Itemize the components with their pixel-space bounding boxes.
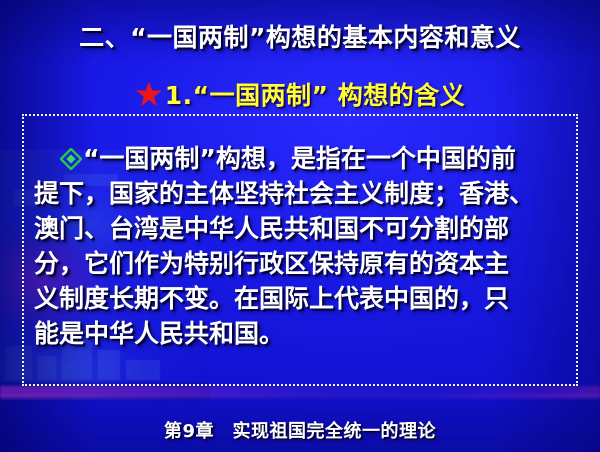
subheading-row: 1.“一国两制” 构想的含义 (0, 76, 600, 112)
body-line: 分，它们作为特别行政区保持原有的资本主 (34, 246, 568, 281)
star-icon (135, 80, 163, 108)
body-line: 能是中华人民共和国。 (34, 316, 568, 351)
background-magenta-band-lower (0, 394, 600, 399)
body-line-text: 能是中华人民共和国。 (34, 319, 284, 348)
body-line-text: 澳门、台湾是中华人民共和国不可分割的部 (34, 214, 509, 243)
body-line-text: 分，它们作为特别行政区保持原有的资本主 (34, 249, 509, 278)
slide-footer: 第9章 实现祖国完全统一的理论 (0, 417, 600, 443)
body-text-block: “一国两制”构想，是指在一个中国的前 提下，国家的主体坚持社会主义制度；香港、 … (34, 141, 568, 351)
body-line-text: “一国两制”构想，是指在一个中国的前 (83, 144, 516, 173)
body-line: “一国两制”构想，是指在一个中国的前 (34, 141, 568, 176)
body-line-text: 义制度长期不变。在国际上代表中国的，只 (34, 284, 509, 313)
body-line: 提下，国家的主体坚持社会主义制度；香港、 (34, 176, 568, 211)
slide-canvas: 二、“一国两制”构想的基本内容和意义 1.“一国两制” 构想的含义 “一国两制”… (0, 0, 600, 452)
page-title: 二、“一国两制”构想的基本内容和意义 (0, 18, 600, 54)
body-line: 义制度长期不变。在国际上代表中国的，只 (34, 281, 568, 316)
subheading-text: 1.“一国两制” 构想的含义 (165, 76, 465, 112)
body-line-text: 提下，国家的主体坚持社会主义制度；香港、 (34, 179, 534, 208)
diamond-bullet-icon (60, 144, 82, 166)
body-line: 澳门、台湾是中华人民共和国不可分割的部 (34, 211, 568, 246)
